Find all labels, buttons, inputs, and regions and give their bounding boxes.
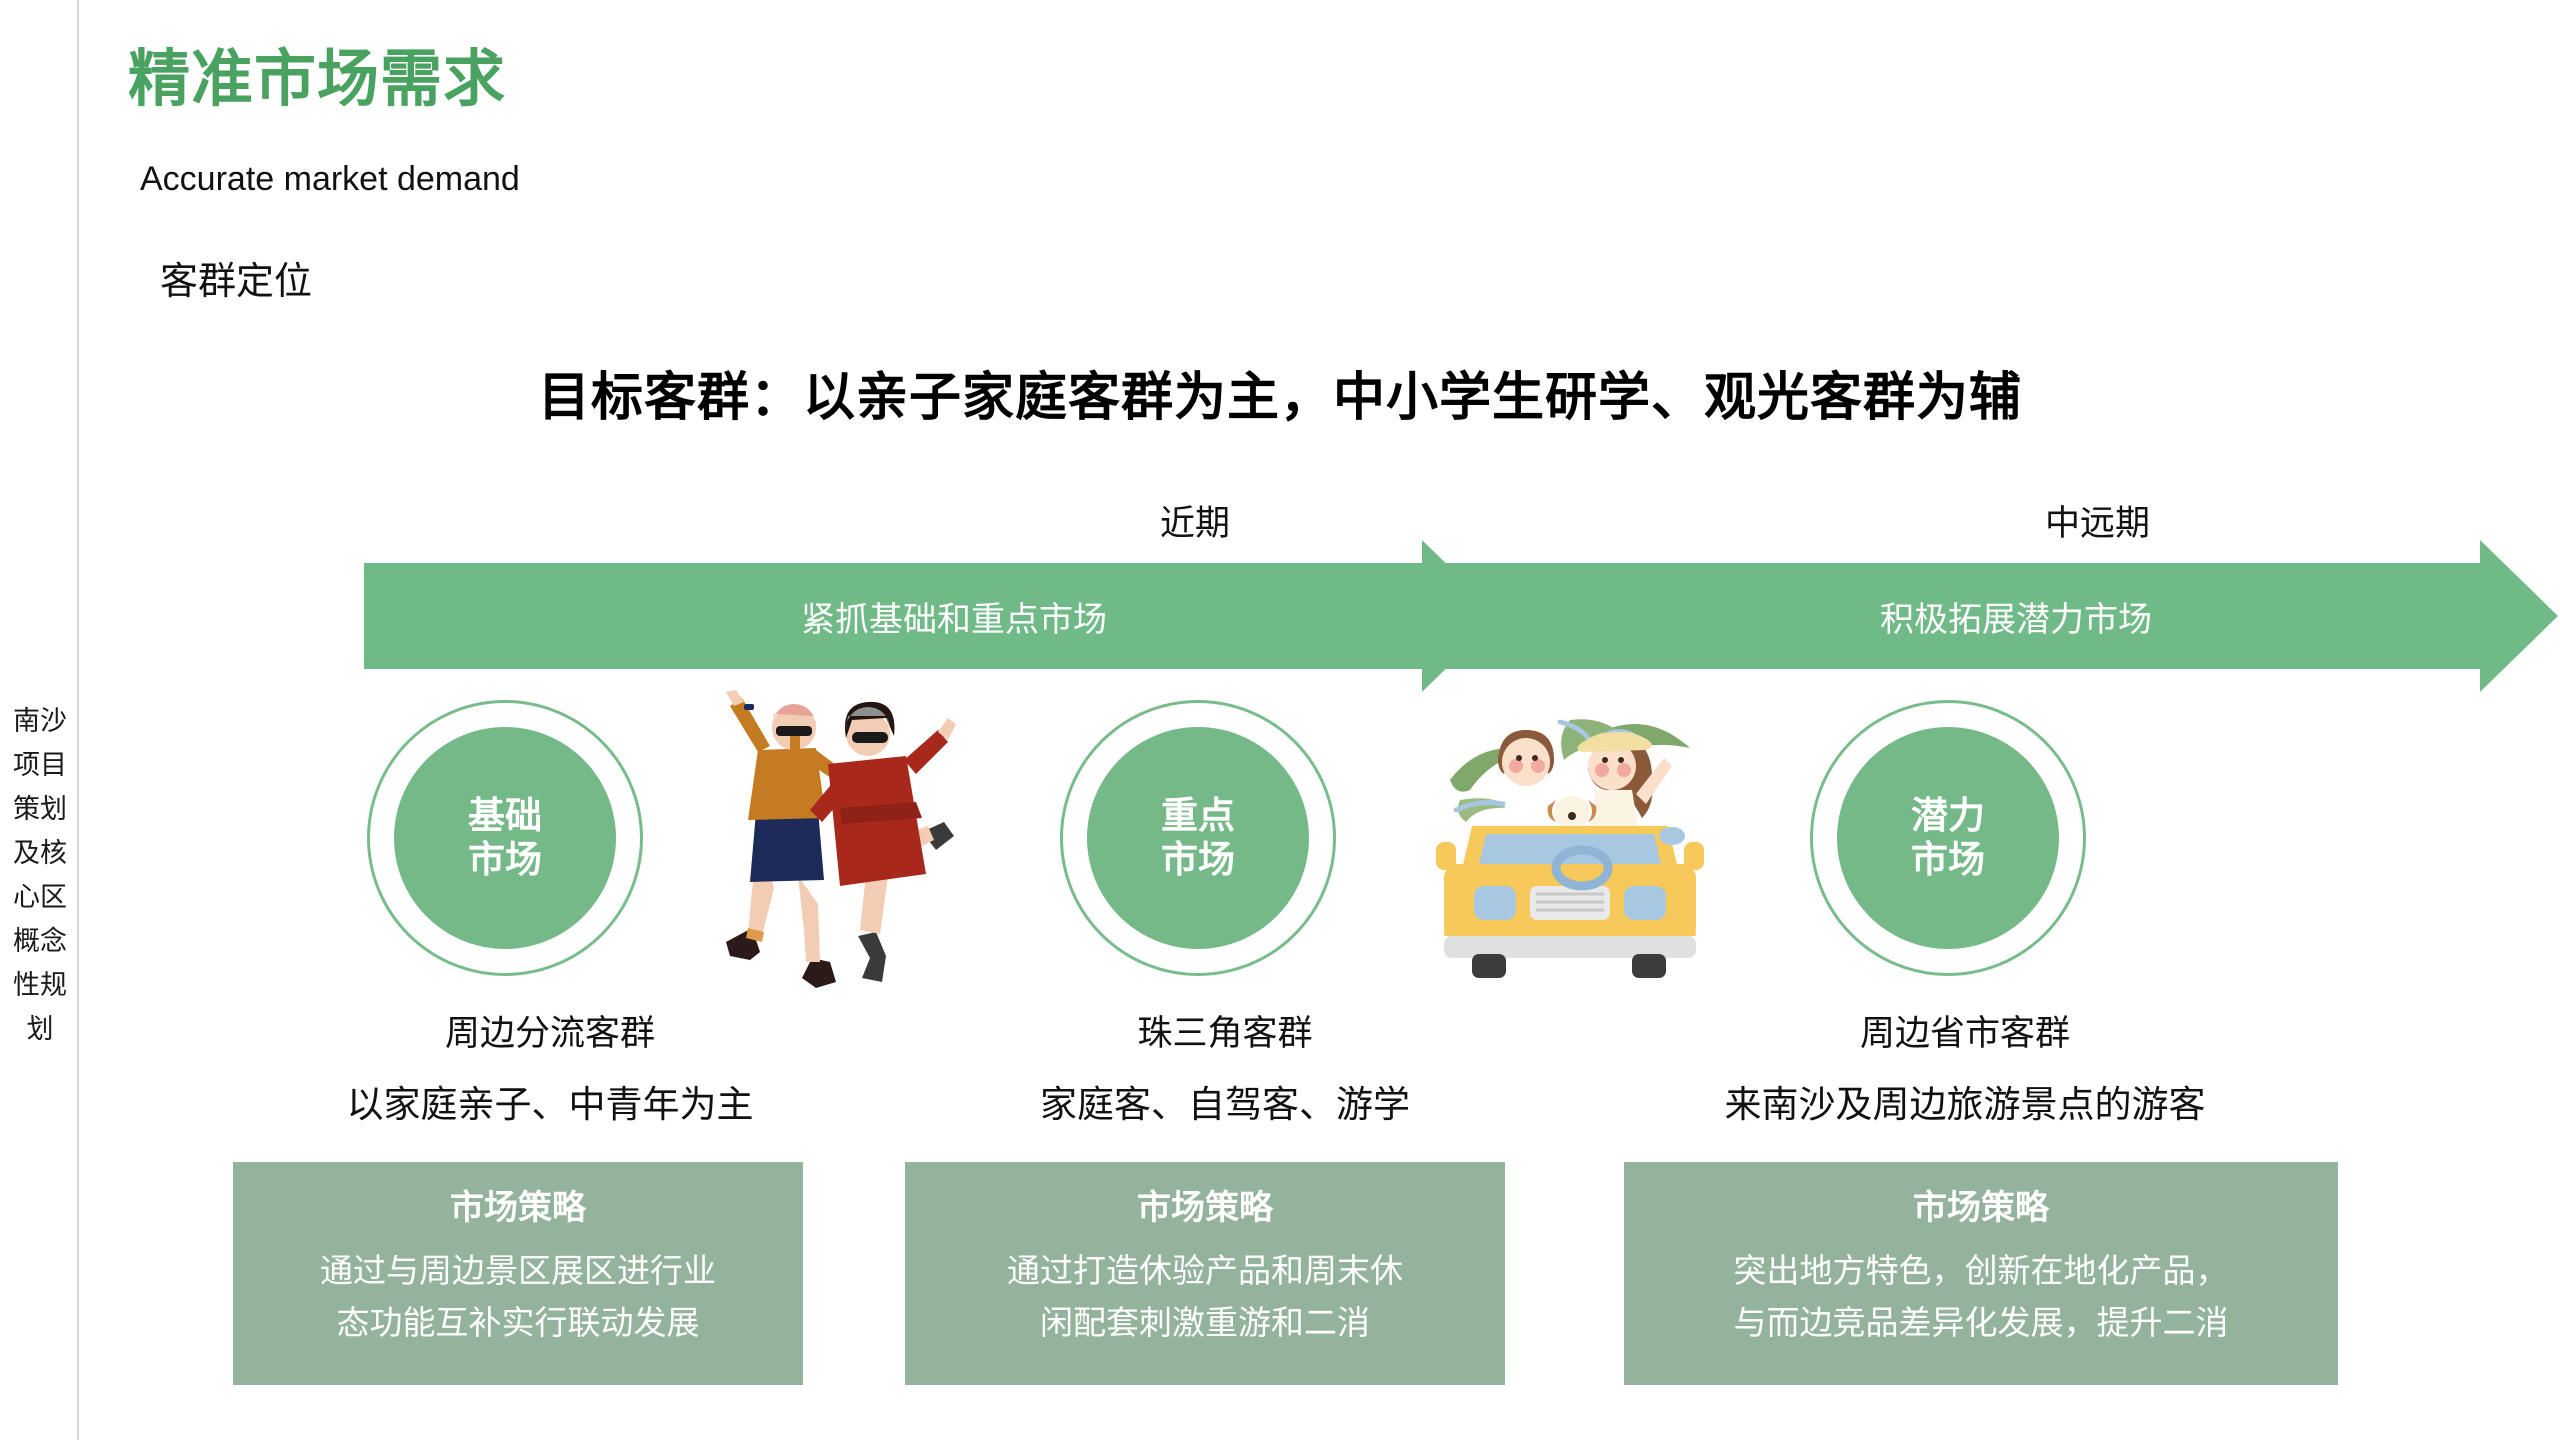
market-circle-label-key: 重点 市场 <box>1161 794 1235 882</box>
strategy-body: 通过与周边景区展区进行业 态功能互补实行联动发展 <box>247 1245 789 1349</box>
strategy-box-potential: 市场策略 突出地方特色，创新在地化产品， 与而边竞品差异化发展，提升二消 <box>1624 1162 2338 1385</box>
caption-potential-market: 周边省市客群 来南沙及周边旅游景点的游客 <box>1600 1005 2330 1128</box>
market-circle-label-basic: 基础 市场 <box>468 794 542 882</box>
page-subtitle: 客群定位 <box>160 250 312 305</box>
family-car-illustration <box>1420 700 1720 1000</box>
caption-title: 珠三角客群 <box>905 1005 1545 1056</box>
market-circle-key: 重点 市场 <box>1060 700 1336 976</box>
sidebar-vertical-title: 南沙项目策划及核心区概念性规划 <box>8 700 72 1052</box>
arrow-label-mid-long-term: 积极拓展潜力市场 <box>1880 592 2152 641</box>
strategy-body: 突出地方特色，创新在地化产品， 与而边竞品差异化发展，提升二消 <box>1638 1245 2324 1349</box>
market-circle-fill: 重点 市场 <box>1087 727 1309 949</box>
slide-canvas: 南沙项目策划及核心区概念性规划 精准市场需求 Accurate market d… <box>0 0 2560 1440</box>
market-circle-fill: 基础 市场 <box>394 727 616 949</box>
caption-title: 周边分流客群 <box>230 1005 870 1056</box>
two-women-illustration <box>690 690 980 995</box>
market-circle-fill: 潜力 市场 <box>1837 727 2059 949</box>
target-audience-headline: 目标客群：以亲子家庭客群为主，中小学生研学、观光客群为辅 <box>0 355 2560 430</box>
page-title-cn: 精准市场需求 <box>128 28 506 118</box>
strategy-body: 通过打造休验产品和周末休 闲配套刺激重游和二消 <box>919 1245 1491 1349</box>
page-title-en: Accurate market demand <box>140 160 520 199</box>
caption-title: 周边省市客群 <box>1600 1005 2330 1056</box>
phase-label-mid-long-term: 中远期 <box>2045 495 2150 546</box>
caption-detail: 家庭客、自驾客、游学 <box>905 1074 1545 1128</box>
caption-detail: 来南沙及周边旅游景点的游客 <box>1600 1074 2330 1128</box>
caption-detail: 以家庭亲子、中青年为主 <box>230 1074 870 1128</box>
sidebar-divider <box>77 0 79 1440</box>
caption-basic-market: 周边分流客群 以家庭亲子、中青年为主 <box>230 1005 870 1128</box>
timeline-arrow-mid-long-term: 积极拓展潜力市场 <box>1430 563 2482 669</box>
strategy-box-basic: 市场策略 通过与周边景区展区进行业 态功能互补实行联动发展 <box>233 1162 803 1385</box>
market-circle-label-potential: 潜力 市场 <box>1911 794 1985 882</box>
strategy-title: 市场策略 <box>919 1180 1491 1229</box>
strategy-title: 市场策略 <box>1638 1180 2324 1229</box>
market-circle-potential: 潜力 市场 <box>1810 700 2086 976</box>
strategy-box-key: 市场策略 通过打造休验产品和周末休 闲配套刺激重游和二消 <box>905 1162 1505 1385</box>
phase-label-near-term: 近期 <box>1160 495 1230 546</box>
timeline-arrow-near-term: 紧抓基础和重点市场 <box>364 563 1424 669</box>
strategy-title: 市场策略 <box>247 1180 789 1229</box>
market-circle-basic: 基础 市场 <box>367 700 643 976</box>
arrow-label-near-term: 紧抓基础和重点市场 <box>801 592 1107 641</box>
caption-key-market: 珠三角客群 家庭客、自驾客、游学 <box>905 1005 1545 1128</box>
